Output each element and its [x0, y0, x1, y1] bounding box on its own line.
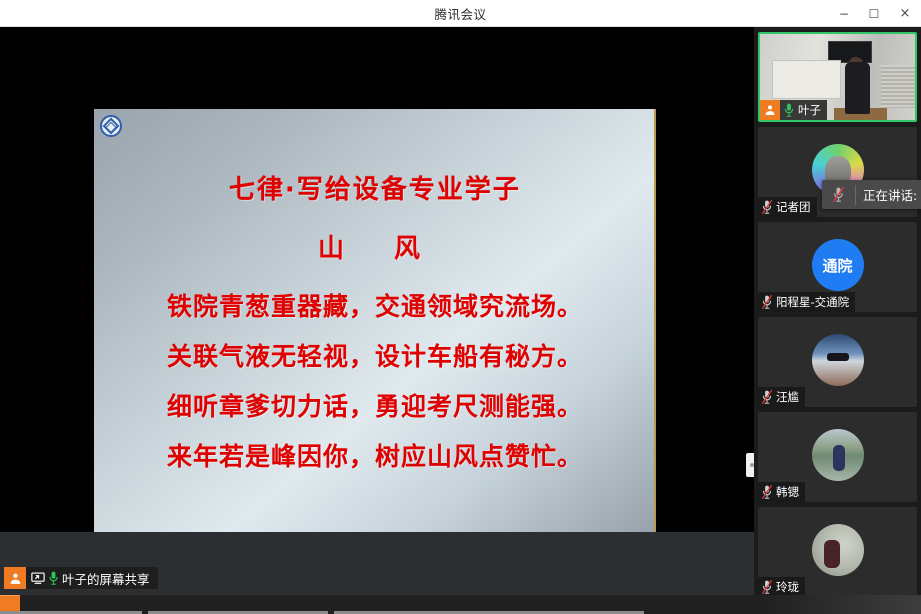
minimize-button[interactable]: −: [829, 0, 859, 27]
maximize-button[interactable]: ☐: [859, 0, 889, 27]
mic-muted-icon: [758, 390, 776, 404]
avatar: [812, 334, 864, 386]
participant-name: 汪尴: [776, 389, 799, 405]
participant-tile-yangchengxing[interactable]: 通院 阳程星-交通院: [758, 222, 917, 312]
mic-on-icon: [48, 571, 59, 585]
slide-subtitle: 山 风: [318, 228, 432, 265]
participant-name: 叶子: [798, 102, 821, 118]
tile-info-bar: 韩锶: [758, 482, 805, 502]
tile-info-bar: 叶子: [760, 100, 827, 120]
slide-resize-handle[interactable]: [746, 453, 754, 477]
tile-info-bar: 玲珑: [758, 577, 805, 597]
speaking-label: 正在讲话: 叶: [863, 185, 921, 204]
participant-name: 韩锶: [776, 484, 799, 500]
participant-name: 阳程星-交通院: [776, 294, 849, 310]
tile-info-bar: 汪尴: [758, 387, 805, 407]
mic-muted-icon: [758, 295, 776, 309]
slide-line-1: 铁院青葱重器藏，交通领域究流场。: [167, 287, 583, 323]
title-bar: 腾讯会议 − ☐ ×: [0, 0, 921, 27]
avatar: [812, 429, 864, 481]
slide-content: 七律·写给设备专业学子 山 风 铁院青葱重器藏，交通领域究流场。 关联气液无轻视…: [94, 109, 656, 532]
avatar: 通院: [812, 239, 864, 291]
person-icon: [4, 567, 26, 589]
participant-tile-yezi[interactable]: 叶子: [758, 32, 917, 122]
taskbar-item-1[interactable]: [0, 595, 20, 611]
close-button[interactable]: ×: [889, 0, 921, 27]
mic-muted-icon: [758, 200, 776, 214]
slide-title: 七律·写给设备专业学子: [229, 169, 521, 206]
share-letterbox: 七律·写给设备专业学子 山 风 铁院青葱重器藏，交通领域究流场。 关联气液无轻视…: [0, 27, 754, 595]
screen-share-icon: [31, 572, 45, 584]
taskbar-tray-glow: [761, 595, 921, 614]
slide-line-4: 来年若是峰因你，树应山风点赞忙。: [167, 437, 583, 473]
participant-tile-han[interactable]: 韩锶: [758, 412, 917, 502]
share-banner-label: 叶子的屏幕共享: [62, 569, 150, 588]
slide-line-3: 细听章爹切力话，勇迎考尺测能强。: [167, 387, 583, 423]
mic-muted-icon: [758, 580, 776, 594]
tile-info-bar: 阳程星-交通院: [758, 292, 855, 312]
window-title: 腾讯会议: [434, 4, 486, 23]
participant-name: 玲珑: [776, 579, 799, 595]
participant-tile-linglong[interactable]: 玲珑: [758, 507, 917, 597]
avatar: [812, 524, 864, 576]
presentation-slide: 七律·写给设备专业学子 山 风 铁院青葱重器藏，交通领域究流场。 关联气液无轻视…: [94, 109, 656, 532]
participant-name: 记者团: [776, 199, 811, 215]
slide-line-2: 关联气液无轻视，设计车船有秘方。: [167, 337, 583, 373]
tencent-meeting-window: 腾讯会议 − ☐ × 七律·写给设备专业学子 山 风 铁院青葱重器藏，交通领域究…: [0, 0, 921, 614]
tile-info-bar: 记者团: [758, 197, 817, 217]
person-icon: [760, 100, 780, 120]
mic-muted-icon: [828, 187, 848, 202]
shared-screen-stage[interactable]: 七律·写给设备专业学子 山 风 铁院青葱重器藏，交通领域究流场。 关联气液无轻视…: [0, 27, 754, 595]
participant-tile-wang[interactable]: 汪尴: [758, 317, 917, 407]
window-controls: − ☐ ×: [829, 0, 921, 27]
screen-share-banner: 叶子的屏幕共享: [4, 567, 158, 589]
mic-muted-icon: [758, 485, 776, 499]
participant-filmstrip[interactable]: 叶子 记者团 通院: [754, 27, 921, 595]
mic-on-icon: [780, 103, 798, 117]
toast-divider: [855, 185, 856, 205]
os-taskbar[interactable]: [0, 595, 921, 614]
speaking-toast: 正在讲话: 叶: [822, 180, 921, 209]
